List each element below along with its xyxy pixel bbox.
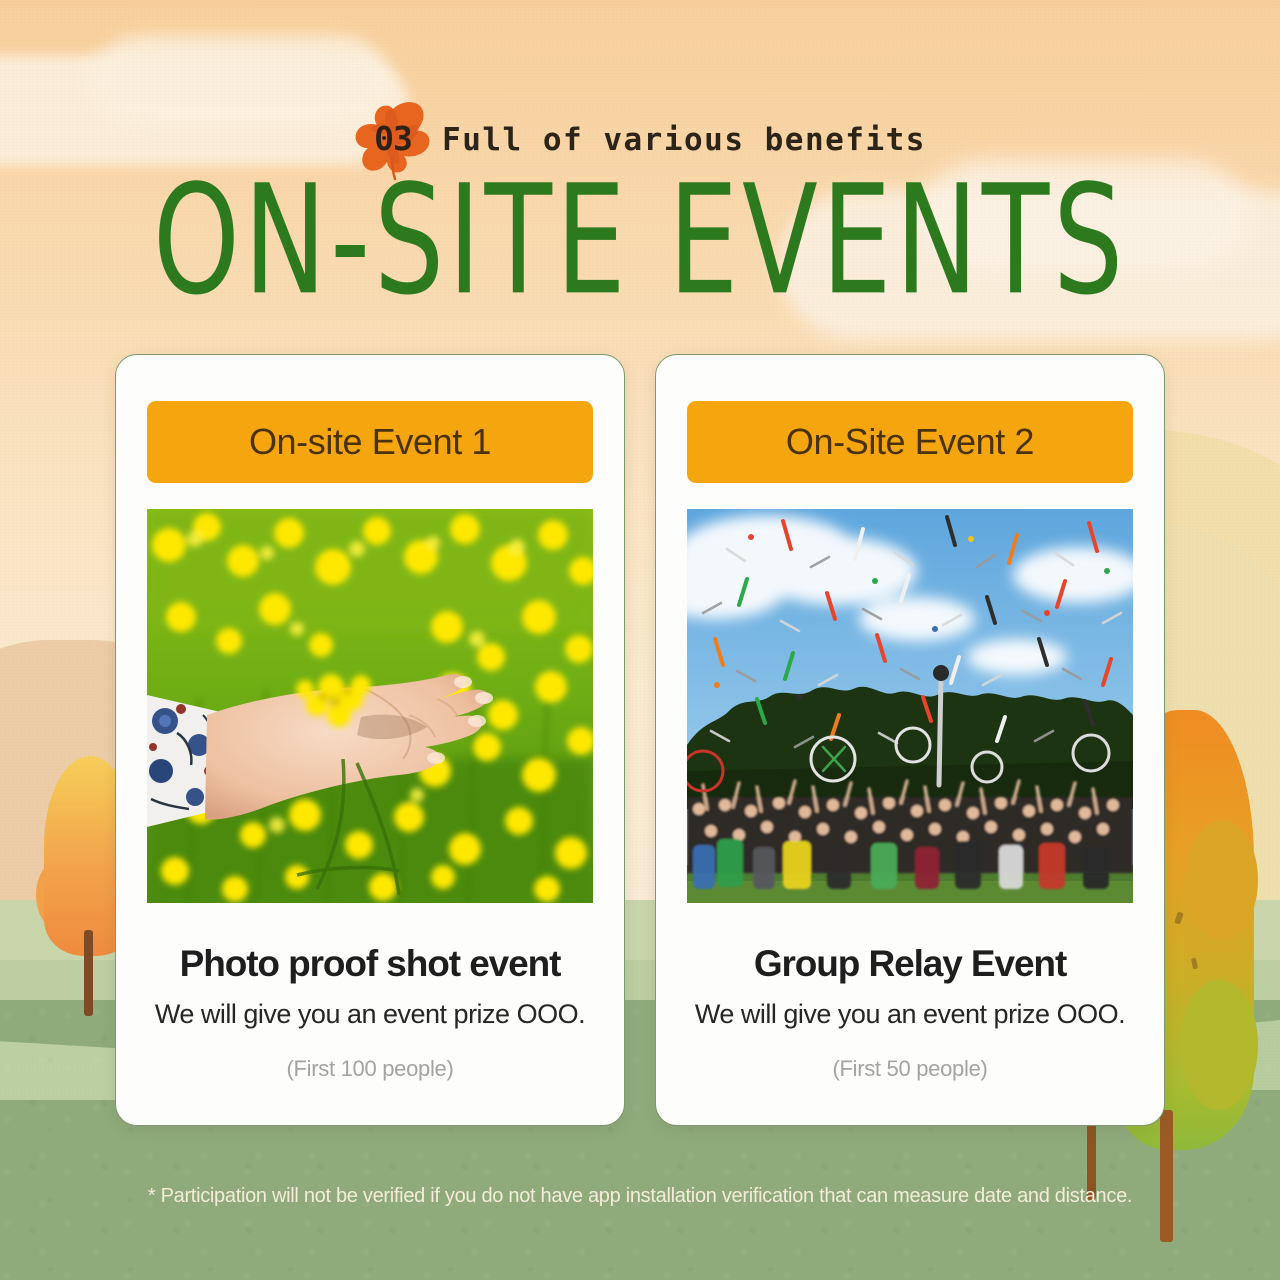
event-subtitle-1: We will give you an event prize OOO. [155,999,585,1030]
event-badge-1: On-site Event 1 [147,401,593,483]
event-subtitle-2: We will give you an event prize OOO. [695,999,1125,1030]
page-title: ON-SITE EVENTS [26,172,1255,311]
event-note-1: (First 100 people) [286,1056,453,1082]
event-card-1[interactable]: On-site Event 1 [115,354,625,1126]
crowd-juggling-photo [687,509,1133,903]
footnote-text: * Participation will not be verified if … [0,1185,1280,1208]
event-note-2: (First 50 people) [832,1056,987,1082]
event-photo-1 [147,509,593,903]
event-badge-2: On-Site Event 2 [687,401,1133,483]
event-card-2[interactable]: On-Site Event 2 [655,354,1165,1126]
page-content: 03 Full of various benefits ON-SITE EVEN… [0,0,1280,1280]
canola-field-photo [147,509,593,903]
event-title-1: Photo proof shot event [180,943,561,985]
event-photo-2 [687,509,1133,903]
event-title-2: Group Relay Event [754,943,1066,985]
event-cards-row: On-site Event 1 [0,354,1280,1126]
